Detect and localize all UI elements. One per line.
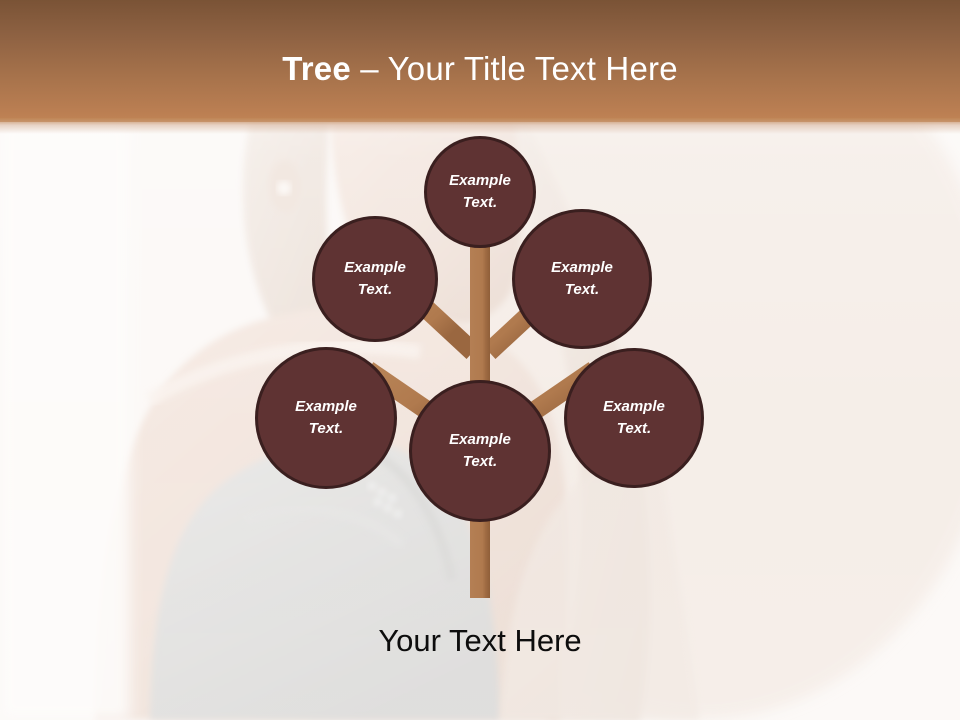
tree-node-center-line2: Text. [463, 451, 497, 473]
tree-node-lower-right-line2: Text. [617, 418, 651, 440]
tree-node-lower-right[interactable]: Example Text. [564, 348, 704, 488]
tree-node-lower-left-line1: Example [295, 396, 357, 418]
page-title: Tree – Your Title Text Here [0, 48, 960, 90]
tree-node-top-line2: Text. [463, 192, 497, 214]
page-title-bold-part: Tree [282, 50, 351, 87]
tree-node-top-line1: Example [449, 170, 511, 192]
tree-node-center[interactable]: Example Text. [409, 380, 551, 522]
tree-node-center-line1: Example [449, 429, 511, 451]
tree-node-upper-left-line2: Text. [358, 279, 392, 301]
tree-node-upper-left[interactable]: Example Text. [312, 216, 438, 342]
slide-canvas: Tree – Your Title Text Here Example Text… [0, 0, 960, 720]
bottom-caption: Your Text Here [0, 620, 960, 662]
tree-node-upper-right-line2: Text. [565, 279, 599, 301]
tree-node-lower-left-line2: Text. [309, 418, 343, 440]
tree-node-upper-right-line1: Example [551, 257, 613, 279]
tree-node-upper-left-line1: Example [344, 257, 406, 279]
page-title-rest-part: – Your Title Text Here [351, 50, 678, 87]
tree-node-lower-left[interactable]: Example Text. [255, 347, 397, 489]
tree-node-top[interactable]: Example Text. [424, 136, 536, 248]
tree-node-lower-right-line1: Example [603, 396, 665, 418]
tree-node-upper-right[interactable]: Example Text. [512, 209, 652, 349]
